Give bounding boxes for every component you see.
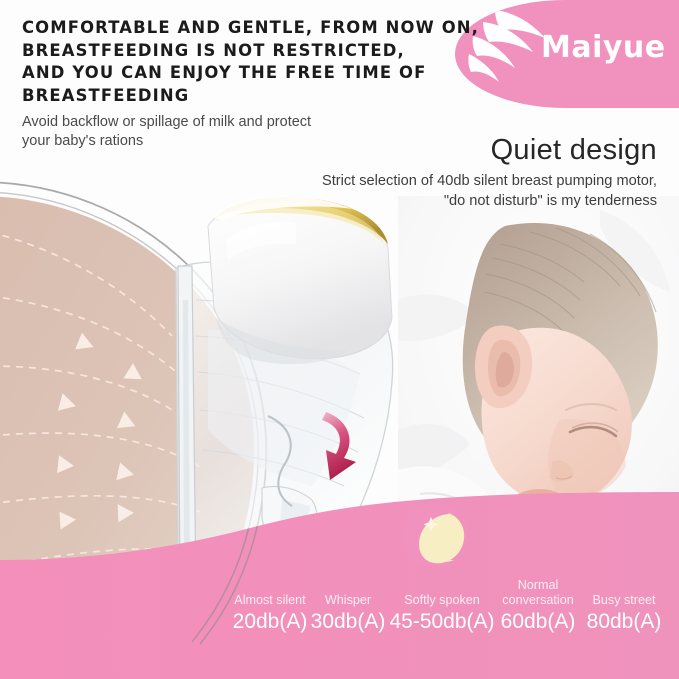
db-scale-item: Busy street80db(A) — [580, 593, 668, 634]
product-marketing-image: Maiyue COMFORTABLE AND GENTLE, FROM NOW … — [0, 0, 679, 679]
db-scale-item: Softly spoken45-50db(A) — [386, 593, 498, 634]
db-scale-item: Whisper30db(A) — [308, 593, 388, 634]
crescent-moon-badge — [404, 503, 468, 567]
db-scale-item-label: Normalconversation — [494, 578, 582, 608]
headline-subtext: Avoid backflow or spillage of milk and p… — [22, 113, 402, 151]
quiet-sub-line-2: "do not disturb" is my tenderness — [227, 192, 657, 212]
db-scale-item-value: 80db(A) — [580, 609, 668, 634]
db-scale-item-value: 60db(A) — [494, 609, 582, 634]
db-scale-item-value: 45-50db(A) — [386, 609, 498, 634]
headline-line-4: BREASTFEEDING — [22, 85, 442, 108]
brand-name: Maiyue — [541, 30, 666, 65]
quiet-design-subtext: Strict selection of 40db silent breast p… — [227, 172, 657, 211]
subhead-line-2: your baby's rations — [22, 132, 402, 151]
headline: COMFORTABLE AND GENTLE, FROM NOW ON, BRE… — [22, 17, 442, 107]
quiet-design-title: Quiet design — [491, 134, 657, 167]
headline-line-3: AND YOU CAN ENJOY THE FREE TIME OF — [22, 62, 442, 85]
db-scale: Almost silent20db(A)Whisper30db(A)Softly… — [0, 578, 679, 648]
subhead-line-1: Avoid backflow or spillage of milk and p… — [22, 113, 402, 132]
db-scale-item-label: Almost silent — [222, 593, 318, 608]
db-scale-item-label: Softly spoken — [386, 593, 498, 608]
headline-line-1: COMFORTABLE AND GENTLE, FROM NOW ON, — [22, 17, 442, 40]
db-scale-item: Almost silent20db(A) — [222, 593, 318, 634]
headline-line-2: BREASTFEEDING IS NOT RESTRICTED, — [22, 40, 442, 63]
brand-logo-panel: Maiyue — [455, 0, 679, 108]
crescent-moon-icon — [404, 503, 468, 567]
db-scale-item-value: 20db(A) — [222, 609, 318, 634]
db-scale-item-label: Busy street — [580, 593, 668, 608]
quiet-sub-line-1: Strict selection of 40db silent breast p… — [227, 172, 657, 192]
db-scale-item: Normalconversation60db(A) — [494, 578, 582, 634]
db-scale-item-value: 30db(A) — [308, 609, 388, 634]
db-scale-item-label: Whisper — [308, 593, 388, 608]
